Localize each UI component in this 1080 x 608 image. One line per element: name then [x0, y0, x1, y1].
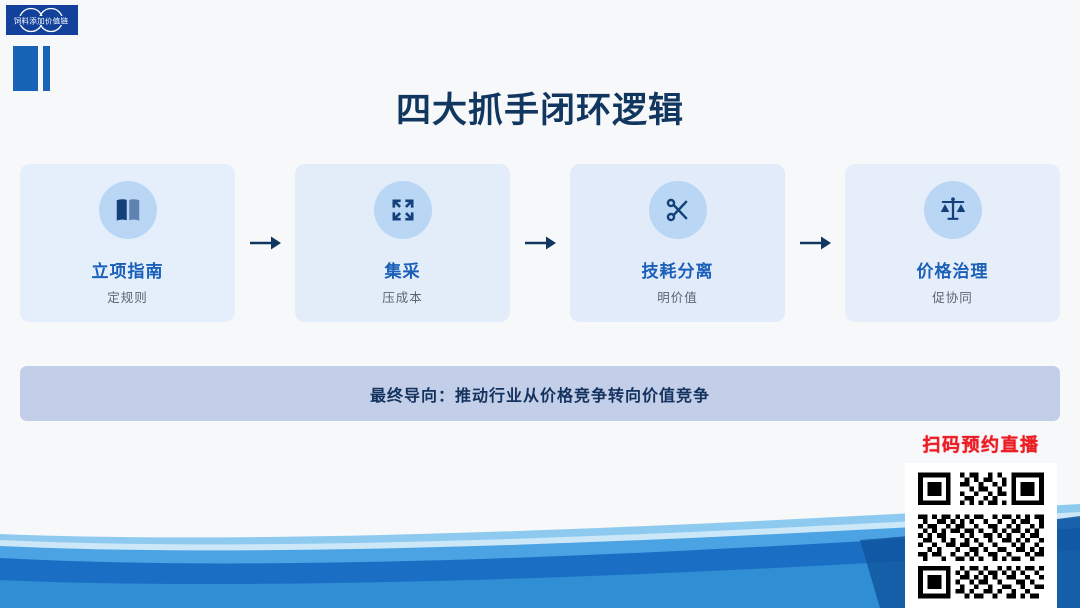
flow-step-subtitle: 压成本	[382, 287, 423, 306]
flow-step-title: 技耗分离	[642, 257, 714, 282]
balance-scale-icon	[924, 181, 982, 239]
flow-step-title: 立项指南	[92, 257, 164, 282]
flow-step-title: 价格治理	[917, 257, 989, 282]
svg-text:饲料添加价值链: 饲料添加价值链	[14, 16, 69, 26]
brand-logo-badge: 饲料添加价值链	[6, 5, 78, 35]
flow-step-subtitle: 明价值	[657, 287, 698, 306]
flow-step-card-4[interactable]: 价格治理 促协同	[845, 164, 1060, 322]
flow-arrow-1	[235, 234, 295, 252]
flow-step-card-2[interactable]: 集采 压成本	[295, 164, 510, 322]
flow-step-card-1[interactable]: 立项指南 定规则	[20, 164, 235, 322]
converge-arrows-icon	[374, 181, 432, 239]
flow-diagram: 立项指南 定规则 集采 压成本	[20, 164, 1060, 322]
qr-code[interactable]	[905, 463, 1057, 608]
qr-caption: 扫码预约直播	[923, 431, 1040, 457]
scissors-icon	[649, 181, 707, 239]
flow-step-subtitle: 定规则	[107, 287, 148, 306]
slide-canvas: 饲料添加价值链 四大抓手闭环逻辑 立项指南 定规则	[0, 0, 1080, 608]
flow-arrow-3	[785, 234, 845, 252]
page-title: 四大抓手闭环逻辑	[0, 82, 1080, 133]
flow-arrow-2	[510, 234, 570, 252]
flow-step-subtitle: 促协同	[932, 287, 973, 306]
open-book-icon	[99, 181, 157, 239]
qr-promo-block: 扫码预约直播	[900, 431, 1062, 608]
conclusion-banner: 最终导向：推动行业从价格竞争转向价值竞争	[20, 366, 1060, 421]
flow-step-title: 集采	[385, 257, 421, 282]
flow-step-card-3[interactable]: 技耗分离 明价值	[570, 164, 785, 322]
